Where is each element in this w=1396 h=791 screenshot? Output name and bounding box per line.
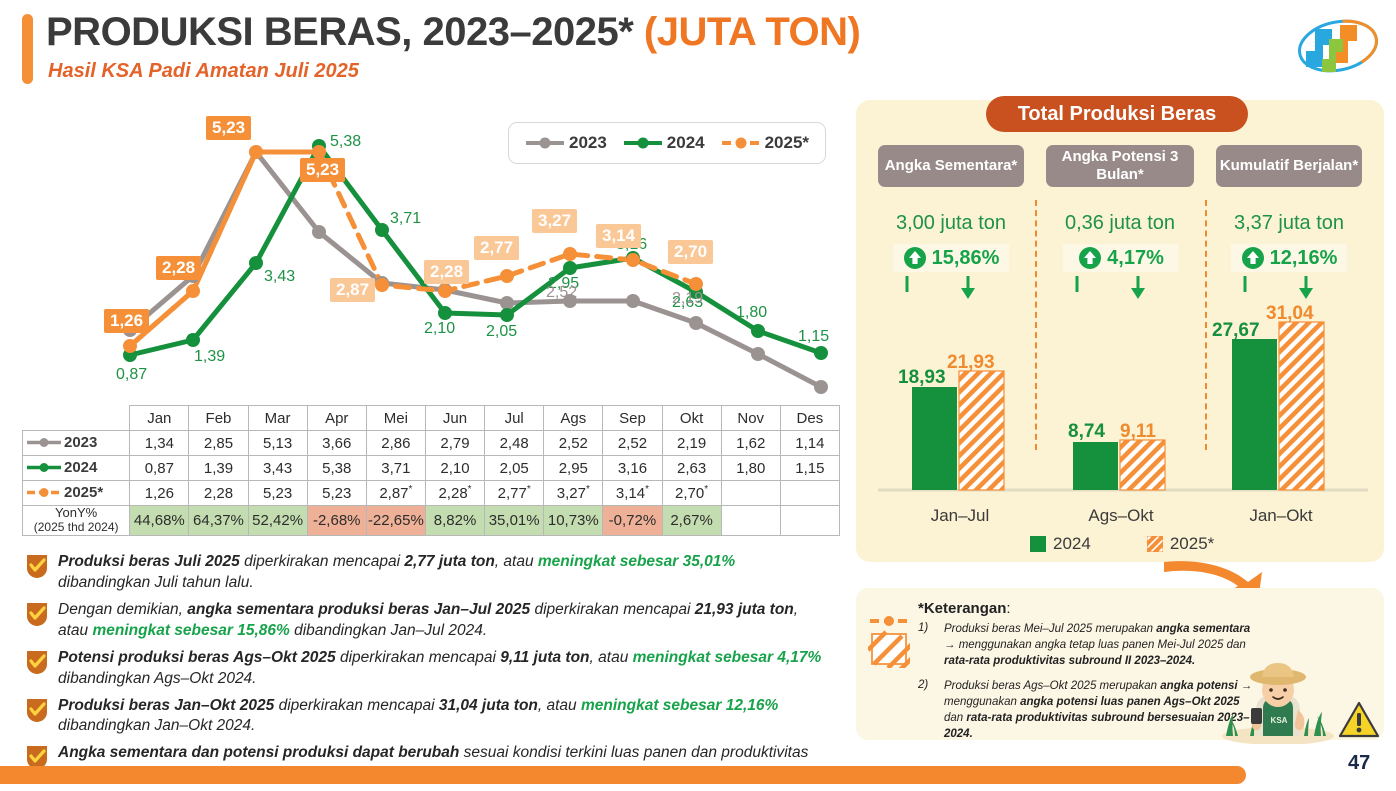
keterangan-item-1: Produksi beras Mei–Jul 2025 merupakan an… <box>944 622 1254 670</box>
check-badge-icon <box>26 650 48 674</box>
infographic-page: PRODUKSI BERAS, 2023–2025* (JUTA TON) Ha… <box>0 0 1396 784</box>
point-label-2024-des: 1,15 <box>798 328 829 346</box>
kpi-delta-angka-potensi: 4,17% <box>1063 244 1179 272</box>
col-header-nov: Nov <box>721 406 780 431</box>
table-row-2023: 2023 1,34 2,85 5,13 3,66 2,86 2,79 2,48 … <box>23 431 840 456</box>
kpi-connector-1 <box>1063 276 1179 302</box>
cell-2023-okt: 2,19 <box>662 431 721 456</box>
col-header-jan: Jan <box>130 406 189 431</box>
legend-item-2024[interactable]: 2024 <box>623 133 705 153</box>
kpi-heading-angka-sementara: Angka Sementara* <box>878 145 1024 187</box>
summary-bar-chart <box>870 300 1376 530</box>
bps-logo-icon <box>1296 12 1380 80</box>
line-chart-legend: 2023 2024 2025* <box>508 122 826 164</box>
cell-2025-ags: 3,27* <box>544 481 603 506</box>
bar-label-2025-ags-okt: 9,11 <box>1120 421 1156 443</box>
col-header-jun: Jun <box>425 406 484 431</box>
bullet-item: Dengan demikian, angka sementara produks… <box>26 600 826 642</box>
data-table-wrapper: Jan Feb Mar Apr Mei Jun Jul Ags Sep Okt … <box>22 405 840 536</box>
point-label-2024-jan: 0,87 <box>116 366 147 384</box>
point-label-2025-ags: 3,27 <box>532 209 577 233</box>
col-header-des: Des <box>780 406 839 431</box>
cell-2023-sep: 2,52 <box>603 431 662 456</box>
row-header-2025: 2025* <box>23 481 130 506</box>
kpi-value-angka-sementara: 3,00 juta ton <box>878 212 1024 235</box>
row-label-2024: 2024 <box>64 459 97 476</box>
kpi-connector-0 <box>893 276 1009 302</box>
cell-2023-apr: 3,66 <box>307 431 366 456</box>
bullet-text: Dengan demikian, angka sementara produks… <box>58 600 826 642</box>
bar-chart-legend: 2024 2025* <box>1030 534 1214 554</box>
yony-jun: 8,82% <box>425 506 484 536</box>
point-label-2025-apr: 5,23 <box>300 158 345 182</box>
cell-2023-feb: 2,85 <box>189 431 248 456</box>
yony-apr: -2,68% <box>307 506 366 536</box>
keterangan-sample-icon <box>868 612 910 668</box>
cell-2024-des: 1,15 <box>780 456 839 481</box>
kpi-heading-kumulatif: Kumulatif Berjalan* <box>1216 145 1362 187</box>
yony-subtitle: (2025 thd 2024) <box>23 521 129 535</box>
point-label-2024-apr: 5,38 <box>330 133 361 151</box>
cell-2025-jun: 2,28* <box>425 481 484 506</box>
yony-mei: -22,65% <box>366 506 425 536</box>
cell-2024-okt: 2,63 <box>662 456 721 481</box>
title-accent-bar <box>22 14 33 84</box>
legend-marker-2023 <box>525 136 565 150</box>
keterangan-item-number-1: 1) <box>918 622 928 634</box>
point-label-2025-jan: 1,26 <box>104 309 149 333</box>
yony-mar: 52,42% <box>248 506 307 536</box>
legend-item-2023[interactable]: 2023 <box>525 133 607 153</box>
bar-2025-ags-okt <box>1120 440 1165 490</box>
bar-label-2024-jan-jul: 18,93 <box>898 367 946 389</box>
check-badge-icon <box>26 698 48 722</box>
arrow-up-circle-icon <box>1078 246 1102 270</box>
cell-2025-jan: 1,26 <box>130 481 189 506</box>
point-label-2025-jun: 2,28 <box>424 260 469 284</box>
point-label-2025-jul: 2,77 <box>474 236 519 260</box>
kpi-delta-angka-sementara: 15,86% <box>893 244 1009 272</box>
footer-bar <box>0 766 1246 784</box>
bar-label-2025-jan-okt: 31,04 <box>1266 303 1314 325</box>
row-header-2023: 2023 <box>23 431 130 456</box>
table-header-row: Jan Feb Mar Apr Mei Jun Jul Ags Sep Okt … <box>23 406 840 431</box>
bar-legend-label-2024: 2024 <box>1053 534 1091 554</box>
point-label-2025-mar: 5,23 <box>206 116 251 140</box>
cell-value: 2,70 <box>675 485 704 502</box>
kpi-delta-text: 15,86% <box>932 247 1000 270</box>
cell-2023-jul: 2,48 <box>485 431 544 456</box>
provisional-star: * <box>527 484 531 495</box>
bar-legend-swatch-2025 <box>1147 536 1163 552</box>
cell-2024-jan: 0,87 <box>130 456 189 481</box>
cell-2025-feb: 2,28 <box>189 481 248 506</box>
cell-2025-mei: 2,87* <box>366 481 425 506</box>
keterangan-colon: : <box>1006 600 1010 617</box>
warning-triangle-icon <box>1338 700 1380 740</box>
provisional-star: * <box>586 484 590 495</box>
row-marker-2025 <box>27 487 61 498</box>
bullet-item: Produksi beras Juli 2025 diperkirakan me… <box>26 552 826 594</box>
cell-2023-mei: 2,86 <box>366 431 425 456</box>
page-title: PRODUKSI BERAS, 2023–2025* (JUTA TON) <box>46 10 860 55</box>
check-badge-icon <box>26 602 48 626</box>
point-label-2024-mei: 3,71 <box>390 210 421 228</box>
bar-2025-jan-jul <box>959 371 1004 490</box>
col-header-okt: Okt <box>662 406 721 431</box>
bar-2024-ags-okt <box>1073 442 1118 490</box>
bar-2024-jan-jul <box>912 387 957 490</box>
page-number: 47 <box>1348 752 1370 775</box>
col-header-mei: Mei <box>366 406 425 431</box>
cell-value: 3,27 <box>557 485 586 502</box>
legend-marker-2024 <box>623 136 663 150</box>
bullet-item: Produksi beras Jan–Okt 2025 diperkirakan… <box>26 696 826 738</box>
bar-legend-swatch-2024 <box>1030 536 1046 552</box>
arrow-up-circle-icon <box>903 246 927 270</box>
cell-2024-ags: 2,95 <box>544 456 603 481</box>
cell-2023-nov: 1,62 <box>721 431 780 456</box>
bar-label-2024-jan-okt: 27,67 <box>1212 320 1260 342</box>
row-header-2024: 2024 <box>23 456 130 481</box>
keterangan-item-number-2: 2) <box>918 679 928 691</box>
kpi-delta-kumulatif: 12,16% <box>1231 244 1347 272</box>
provisional-star: * <box>645 484 649 495</box>
bar-2024-jan-okt <box>1232 339 1277 490</box>
page-title-accent: (JUTA TON) <box>644 10 860 54</box>
bullet-text: Produksi beras Jan–Okt 2025 diperkirakan… <box>58 696 826 738</box>
yony-nov <box>721 506 780 536</box>
point-label-2025-sep: 3,14 <box>596 224 641 248</box>
yony-okt: 2,67% <box>662 506 721 536</box>
cell-value: 2,77 <box>498 485 527 502</box>
kpi-heading-angka-potensi: Angka Potensi 3 Bulan* <box>1046 145 1194 187</box>
cell-value: 2,87 <box>379 485 408 502</box>
yony-des <box>780 506 839 536</box>
cell-2025-apr: 5,23 <box>307 481 366 506</box>
col-header-feb: Feb <box>189 406 248 431</box>
point-label-2024-jul: 2,05 <box>486 323 517 341</box>
point-label-2023-ags: 2,52 <box>546 284 577 302</box>
cell-2025-okt: 2,70* <box>662 481 721 506</box>
bar-category-jan-jul: Jan–Jul <box>905 506 1015 526</box>
cell-2025-mar: 5,23 <box>248 481 307 506</box>
bullet-text: Potensi produksi beras Ags–Okt 2025 dipe… <box>58 648 826 690</box>
cell-value: 3,14 <box>616 485 645 502</box>
provisional-star: * <box>468 484 472 495</box>
legend-marker-2025 <box>721 136 761 150</box>
monthly-production-table: Jan Feb Mar Apr Mei Jun Jul Ags Sep Okt … <box>22 405 840 536</box>
kpi-value-angka-potensi: 0,36 juta ton <box>1046 212 1194 235</box>
cell-2024-apr: 5,38 <box>307 456 366 481</box>
kpi-value-kumulatif: 3,37 juta ton <box>1216 212 1362 235</box>
kpi-delta-text: 12,16% <box>1270 247 1338 270</box>
yony-title: YonY% <box>23 506 129 521</box>
bullet-item: Potensi produksi beras Ags–Okt 2025 dipe… <box>26 648 826 690</box>
cell-2025-des <box>780 481 839 506</box>
cell-2025-sep: 3,14* <box>603 481 662 506</box>
bar-label-2024-ags-okt: 8,74 <box>1068 421 1105 443</box>
cell-2023-jun: 2,79 <box>425 431 484 456</box>
series-line-2023 <box>130 152 821 387</box>
cell-2024-mei: 3,71 <box>366 456 425 481</box>
keterangan-item-2: Produksi beras Ags–Okt 2025 merupakan an… <box>944 679 1254 742</box>
table-row-yony: YonY% (2025 thd 2024) 44,68% 64,37% 52,4… <box>23 506 840 536</box>
point-label-2024-jun: 2,10 <box>424 320 455 338</box>
point-label-2025-feb: 2,28 <box>156 256 201 280</box>
cell-2024-jun: 2,10 <box>425 456 484 481</box>
cell-2024-nov: 1,80 <box>721 456 780 481</box>
cell-2024-sep: 3,16 <box>603 456 662 481</box>
col-header-jul: Jul <box>485 406 544 431</box>
kpi-delta-text: 4,17% <box>1107 247 1164 270</box>
yony-feb: 64,37% <box>189 506 248 536</box>
yony-row-header: YonY% (2025 thd 2024) <box>23 506 130 536</box>
line-chart-panel: 0,87 1,39 3,43 5,38 3,71 2,10 2,05 2,95 … <box>8 108 846 408</box>
legend-label-2023: 2023 <box>569 133 607 153</box>
kpi-connector-2 <box>1231 276 1347 302</box>
col-header-sep: Sep <box>603 406 662 431</box>
bar-legend-item-2024[interactable]: 2024 <box>1030 534 1091 554</box>
row-marker-2023 <box>27 437 61 448</box>
keterangan-title-text: Keterangan <box>924 600 1007 617</box>
cell-2023-ags: 2,52 <box>544 431 603 456</box>
arrow-up-circle-icon <box>1241 246 1265 270</box>
cell-2024-mar: 3,43 <box>248 456 307 481</box>
bar-legend-label-2025: 2025* <box>1170 534 1214 554</box>
page-header: PRODUKSI BERAS, 2023–2025* (JUTA TON) Ha… <box>0 0 1396 96</box>
point-label-2025-okt: 2,70 <box>668 240 713 264</box>
cell-value: 2,28 <box>438 485 467 502</box>
point-label-2025-mei: 2,87 <box>330 278 375 302</box>
cell-2023-des: 1,14 <box>780 431 839 456</box>
col-header-apr: Apr <box>307 406 366 431</box>
page-subtitle: Hasil KSA Padi Amatan Juli 2025 <box>48 60 359 83</box>
series-line-2025-solid-head <box>130 152 319 346</box>
bar-label-2025-jan-jul: 21,93 <box>947 352 995 374</box>
summary-panel-title: Total Produksi Beras <box>986 96 1248 132</box>
cell-2023-jan: 1,34 <box>130 431 189 456</box>
table-row-2024: 2024 0,87 1,39 3,43 5,38 3,71 2,10 2,05 … <box>23 456 840 481</box>
insight-bullet-list: Produksi beras Juli 2025 diperkirakan me… <box>26 552 826 791</box>
table-row-2025: 2025* 1,26 2,28 5,23 5,23 2,87* 2,28* 2,… <box>23 481 840 506</box>
legend-item-2025[interactable]: 2025* <box>721 133 809 153</box>
point-label-2024-mar: 3,43 <box>264 268 295 286</box>
keterangan-title: *Keterangan: <box>918 600 1011 617</box>
cell-2024-jul: 2,05 <box>485 456 544 481</box>
row-marker-2024 <box>27 462 61 473</box>
bar-legend-item-2025[interactable]: 2025* <box>1147 534 1214 554</box>
legend-label-2025: 2025* <box>765 133 809 153</box>
cell-2023-mar: 5,13 <box>248 431 307 456</box>
page-title-main: PRODUKSI BERAS, 2023–2025* <box>46 10 633 54</box>
bar-category-ags-okt: Ags–Okt <box>1066 506 1176 526</box>
row-label-2023: 2023 <box>64 434 97 451</box>
table-corner-cell <box>23 406 130 431</box>
cell-2024-feb: 1,39 <box>189 456 248 481</box>
farmer-illustration: KSA <box>1218 652 1338 744</box>
check-badge-icon <box>26 554 48 578</box>
point-label-2024-nov: 1,80 <box>736 304 767 322</box>
provisional-star: * <box>704 484 708 495</box>
col-header-ags: Ags <box>544 406 603 431</box>
yony-jul: 35,01% <box>485 506 544 536</box>
cell-2025-jul: 2,77* <box>485 481 544 506</box>
bullet-text: Produksi beras Juli 2025 diperkirakan me… <box>58 552 826 594</box>
bar-2025-jan-okt <box>1279 322 1324 490</box>
bar-category-jan-okt: Jan–Okt <box>1226 506 1336 526</box>
svg-text:KSA: KSA <box>1271 716 1288 725</box>
col-header-mar: Mar <box>248 406 307 431</box>
cell-2025-nov <box>721 481 780 506</box>
row-label-2025: 2025* <box>64 484 103 501</box>
yony-ags: 10,73% <box>544 506 603 536</box>
point-label-2023-okt: 2,19 <box>672 290 703 308</box>
yony-sep: -0,72% <box>603 506 662 536</box>
series-markers-2023 <box>123 145 828 394</box>
legend-label-2024: 2024 <box>667 133 705 153</box>
yony-jan: 44,68% <box>130 506 189 536</box>
point-label-2024-feb: 1,39 <box>194 348 225 366</box>
provisional-star: * <box>409 484 413 495</box>
